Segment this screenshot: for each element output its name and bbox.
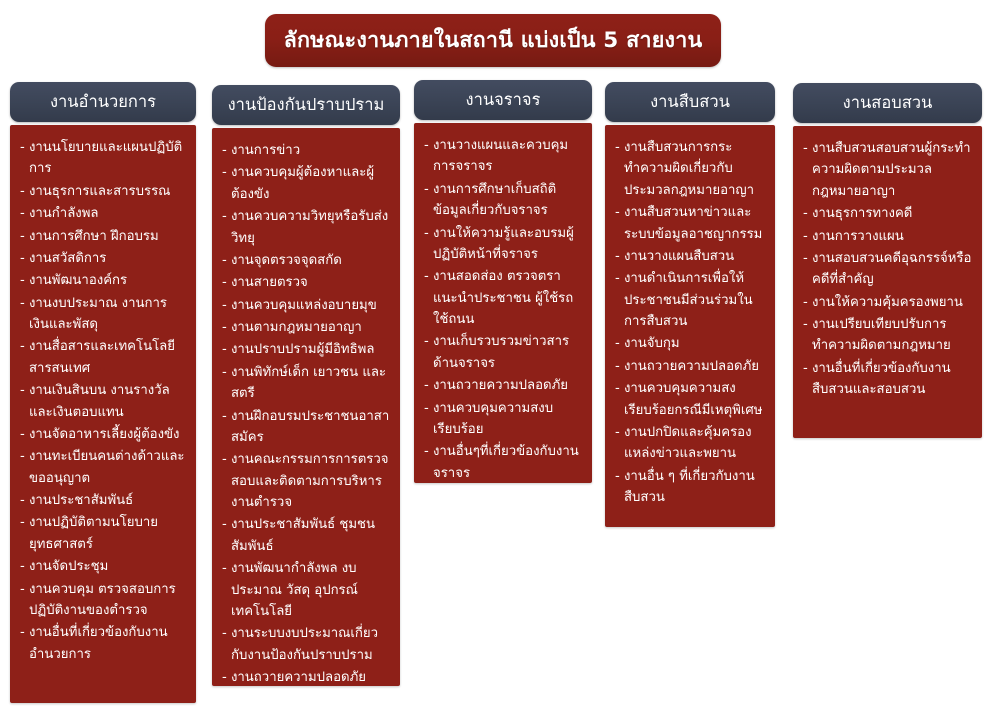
list-item: - งานอื่น ๆ ที่เกี่ยวกับงานสืบสวน (615, 466, 765, 509)
task-list-amnuaikan: - งานนโยบายและแผนปฏิบัติการ - งานธุรการแ… (20, 137, 186, 665)
list-item: - งานระบบงบประมาณเกี่ยวกับงานป้องกันปราบ… (222, 623, 390, 666)
column-pongkan-prapram: งานป้องกันปราบปราม - งานการข่าว - งานควบ… (212, 85, 400, 686)
list-item: - งานอื่นที่เกี่ยวข้องกับงานสืบสวนและสอบ… (803, 358, 972, 401)
list-item: - งานวางแผนสืบสวน (615, 246, 765, 267)
list-item: - งานกำลังพล (20, 203, 186, 224)
column-header-sobsuan[interactable]: งานสอบสวน (793, 83, 982, 123)
chart-title-banner: ลักษณะงานภายในสถานี แบ่งเป็น 5 สายงาน (265, 14, 721, 67)
column-suepsuan: งานสืบสวน - งานสืบสวนการกระทำความผิดเกี่… (605, 82, 775, 527)
list-item: - งานสวัสดิการ (20, 248, 186, 269)
list-item: - งานควบคุมความสงเรียบร้อยกรณีมีเหตุพิเศ… (615, 378, 765, 421)
list-item: - งานอื่นที่เกี่ยวข้องกับงานอำนวยการ (20, 622, 186, 665)
column-jarajon: งานจราจร - งานวางแผนและควบคุมการจราจร - … (414, 80, 592, 483)
list-item: - งานสื่อสารและเทคโนโลยีสารสนเทศ (20, 336, 186, 379)
list-item: - งานปฏิบัติตามนโยบายยุทธศาสตร์ (20, 512, 186, 555)
list-item: - งานปราบปรามผู้มีอิทธิพล (222, 339, 390, 360)
list-item: - งานจุดตรวจจุดสกัด (222, 250, 390, 271)
list-item: - งานพิทักษ์เด็ก เยาวชน และสตรี (222, 362, 390, 405)
list-item: - งานควบความวิทยุหรือรับส่งวิทยุ (222, 206, 390, 249)
chart-title-text: ลักษณะงานภายในสถานี แบ่งเป็น 5 สายงาน (284, 29, 703, 53)
list-item: - งานคณะกรรมการการตรวจสอบและติดตามการบริ… (222, 449, 390, 513)
list-item: - งานถวายความปลอดภัย (615, 356, 765, 377)
column-header-label: งานสืบสวน (650, 93, 730, 111)
list-item: - งานให้ความรู้และอบรมผู้ปฏิบัติหน้าที่จ… (424, 223, 582, 266)
list-item: - งานให้ความคุ้มครองพยาน (803, 292, 972, 313)
list-item: - งานสืบสวนสอบสวนผู้กระทำความผิดตามประมว… (803, 138, 972, 202)
list-item: - งานเงินสินบน งานรางวัลและเงินตอบแทน (20, 380, 186, 423)
column-header-label: งานสอบสวน (843, 94, 933, 112)
list-item: - งานถวายความปลอดภัย (222, 667, 390, 686)
column-header-pongkan-prapram[interactable]: งานป้องกันปราบปราม (212, 85, 400, 125)
list-item: - งานสืบสวนการกระทำความผิดเกี่ยวกับประมว… (615, 137, 765, 201)
list-item: - งานเปรียบเทียบปรับการทำความผิดตามกฎหมา… (803, 314, 972, 357)
list-item: - งานดำเนินการเพื่อให้ประชาชนมีส่วนร่วมใ… (615, 268, 765, 332)
list-item: - งานสอดส่อง ตรวจตรา แนะนำประชาชน ผู้ใช้… (424, 266, 582, 330)
org-chart-page: ลักษณะงานภายในสถานี แบ่งเป็น 5 สายงาน งา… (0, 0, 990, 714)
list-item: - งานการวางแผน (803, 226, 972, 247)
column-sobsuan: งานสอบสวน - งานสืบสวนสอบสวนผู้กระทำความผ… (793, 83, 982, 438)
list-item: - งานอื่นๆที่เกี่ยวข้องกับงานจราจร (424, 441, 582, 483)
list-item: - งานนโยบายและแผนปฏิบัติการ (20, 137, 186, 180)
list-item: - งานงบประมาณ งานการเงินและพัสดุ (20, 293, 186, 336)
list-item: - งานสอบสวนคดีอุฉกรรจ์หรือคดีที่สำคัญ (803, 248, 972, 291)
column-body-amnuaikan: - งานนโยบายและแผนปฏิบัติการ - งานธุรการแ… (10, 125, 196, 703)
column-header-amnuaikan[interactable]: งานอำนวยการ (10, 82, 196, 122)
list-item: - งานจัดอาหารเลี้ยงผู้ต้องขัง (20, 424, 186, 445)
list-item: - งานสายตรวจ (222, 272, 390, 293)
list-item: - งานจับกุม (615, 333, 765, 354)
list-item: - งานพัฒนากำลังพล งบประมาณ วัสดุ อุปกรณ์… (222, 558, 390, 622)
column-header-label: งานอำนวยการ (50, 93, 156, 111)
list-item: - งานวางแผนและควบคุมการจราจร (424, 135, 582, 178)
column-header-label: งานป้องกันปราบปราม (228, 96, 385, 114)
list-item: - งานธุรการและสารบรรณ (20, 181, 186, 202)
column-body-pongkan-prapram: - งานการข่าว - งานควบคุมผู้ต้องหาและผู้ต… (212, 128, 400, 686)
list-item: - งานประชาสัมพันธ์ ชุมชนสัมพันธ์ (222, 514, 390, 557)
list-item: - งานการข่าว (222, 140, 390, 161)
column-body-jarajon: - งานวางแผนและควบคุมการจราจร - งานการศึก… (414, 123, 592, 483)
list-item: - งานควบคุม ตรวจสอบการปฏิบัติงานของตำรวจ (20, 579, 186, 622)
list-item: - งานประชาสัมพันธ์ (20, 490, 186, 511)
column-amnuaikan: งานอำนวยการ - งานนโยบายและแผนปฏิบัติการ … (10, 82, 196, 703)
task-list-sobsuan: - งานสืบสวนสอบสวนผู้กระทำความผิดตามประมว… (803, 138, 972, 401)
list-item: - งานตามกฎหมายอาญา (222, 317, 390, 338)
column-header-jarajon[interactable]: งานจราจร (414, 80, 592, 120)
task-list-suepsuan: - งานสืบสวนการกระทำความผิดเกี่ยวกับประมว… (615, 137, 765, 508)
list-item: - งานควบคุมผู้ต้องหาและผู้ต้องขัง (222, 162, 390, 205)
list-item: - งานฝึกอบรมประชาชนอาสาสมัคร (222, 406, 390, 449)
list-item: - งานทะเบียนคนต่างด้าวและขออนุญาต (20, 446, 186, 489)
list-item: - งานการศึกษาเก็บสถิติข้อมูลเกี่ยวกับจรา… (424, 179, 582, 222)
column-body-suepsuan: - งานสืบสวนการกระทำความผิดเกี่ยวกับประมว… (605, 125, 775, 527)
list-item: - งานปกปิดและคุ้มครองแหล่งข่าวและพยาน (615, 422, 765, 465)
list-item: - งานเก็บรวบรวมข่าวสารด้านจราจร (424, 331, 582, 374)
list-item: - งานควบคุมความสงบเรียบร้อย (424, 398, 582, 441)
list-item: - งานการศึกษา ฝึกอบรม (20, 226, 186, 247)
list-item: - งานถวายความปลอดภัย (424, 375, 582, 396)
list-item: - งานพัฒนาองค์กร (20, 270, 186, 291)
list-item: - งานสืบสวนหาข่าวและระบบข้อมูลอาชญากรรม (615, 202, 765, 245)
task-list-pongkan-prapram: - งานการข่าว - งานควบคุมผู้ต้องหาและผู้ต… (222, 140, 390, 686)
list-item: - งานจัดประชุม (20, 556, 186, 577)
list-item: - งานควบคุมแหล่งอบายมุข (222, 295, 390, 316)
column-header-label: งานจราจร (466, 91, 541, 109)
column-body-sobsuan: - งานสืบสวนสอบสวนผู้กระทำความผิดตามประมว… (793, 126, 982, 438)
task-list-jarajon: - งานวางแผนและควบคุมการจราจร - งานการศึก… (424, 135, 582, 483)
column-header-suepsuan[interactable]: งานสืบสวน (605, 82, 775, 122)
list-item: - งานธุรการทางคดี (803, 203, 972, 224)
